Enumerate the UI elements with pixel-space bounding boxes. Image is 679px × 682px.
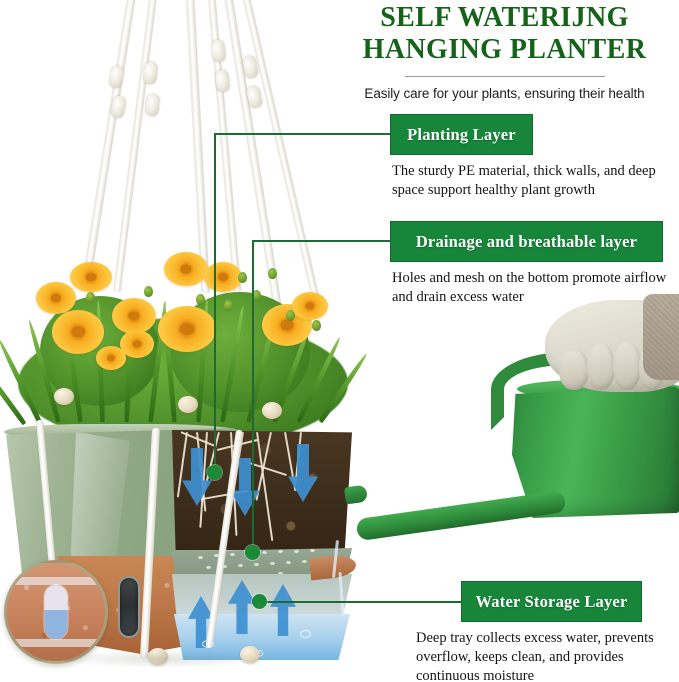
callout-description-planting-layer: The sturdy PE material, thick walls, and… [392,162,674,200]
glove-finger [559,350,589,390]
macrame-knot [143,61,158,84]
flower-bud [86,292,95,303]
flower-bud [238,272,247,283]
water-level-capsule [44,584,69,640]
flower [292,292,328,320]
capsule-water-part [45,610,68,639]
mesh-hole [278,550,283,553]
title-line-2: HANGING PLANTER [330,34,679,66]
mesh-hole [302,560,307,563]
pot-cross-section [172,424,352,660]
flower [158,306,216,352]
mesh-hole [294,550,299,553]
page-title: SELF WATERIJNG HANGING PLANTER [330,2,679,66]
wood-bead [262,402,282,419]
wood-bead [54,388,74,405]
mesh-hole [270,562,275,565]
macrame-knot [108,65,125,89]
flower [70,262,112,292]
flower [164,252,208,286]
title-divider [405,76,605,77]
flower-bud [196,294,205,305]
callout-description-drainage-breathable-layer: Holes and mesh on the bottom promote air… [392,269,674,307]
callout-badge-drainage-breathable-layer[interactable]: Drainage and breathable layer [390,221,663,262]
page-subtitle: Easily care for your plants, ensuring th… [330,85,679,103]
callout-badge-water-storage-layer[interactable]: Water Storage Layer [461,581,642,622]
leader-line-1-horizontal [214,133,392,135]
flower-bud [286,310,295,321]
flower-bud [224,300,233,311]
inset-band [7,639,105,647]
macrame-cord [186,0,210,294]
callout-description-water-storage-layer: Deep tray collects excess water, prevent… [416,629,674,682]
leader-line-2-vertical [252,241,254,559]
leader-line-1-vertical [214,134,216,479]
flower [52,310,104,354]
macrame-knot [215,69,230,92]
flower [96,346,126,370]
flower-bud [144,286,153,297]
mesh-hole [230,553,235,556]
glove-finger [613,342,641,390]
capsule-empty-part [45,585,68,610]
callout-badge-planting-layer[interactable]: Planting Layer [390,114,533,155]
flower [204,262,242,292]
watering-can-with-gloved-hand [395,300,679,580]
infographic-canvas: SELF WATERIJNG HANGING PLANTER Easily ca… [0,0,679,682]
mesh-hole [238,564,243,567]
glove-finger [587,344,615,390]
ground-shadow [60,650,260,668]
leader-line-3-horizontal [262,601,463,603]
flower [112,298,156,334]
leader-line-2-horizontal [252,240,392,242]
macrame-cord [81,0,136,291]
macrame-knot [145,93,160,116]
flower [36,282,76,314]
flower-bud [312,320,321,331]
water-bubble [300,630,311,638]
mesh-hole [254,563,259,566]
title-line-1: SELF WATERIJNG [380,2,629,33]
macrame-knot [110,95,127,119]
mesh-hole [198,556,203,559]
wood-bead [178,396,198,413]
mesh-hole [310,549,315,552]
mesh-hole [286,561,291,564]
water-level-window [118,576,140,638]
header: SELF WATERIJNG HANGING PLANTER Easily ca… [330,2,679,103]
leader-endpoint-dot-1 [207,465,222,480]
mesh-hole [206,566,211,569]
leader-endpoint-dot-3 [252,594,267,609]
mesh-hole [262,551,267,554]
macrame-knot [211,39,226,62]
flower-bud [268,268,277,279]
leader-endpoint-dot-2 [245,545,260,560]
water-level-indicator-inset [4,560,108,664]
